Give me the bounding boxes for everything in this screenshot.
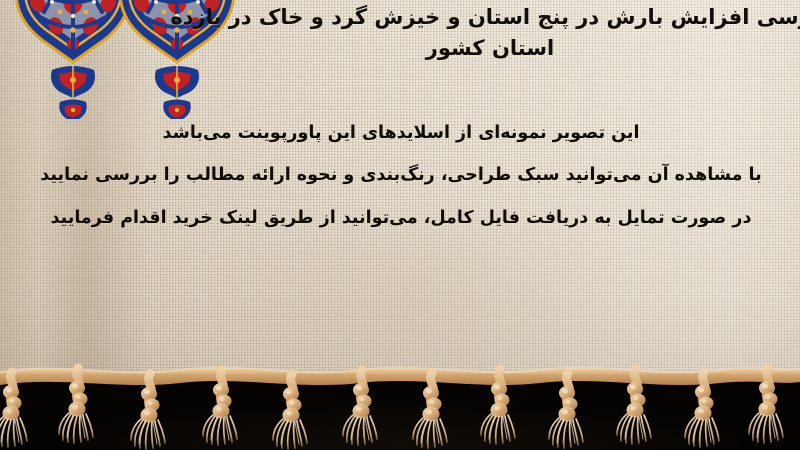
slide-title-line-2: استان کشور bbox=[170, 33, 800, 64]
slide-title-line-1: بررسی افزایش بارش در پنج استان و خیزش گر… bbox=[170, 2, 800, 33]
body-line-1: این تصویر نمونه‌ای از اسلایدهای این پاور… bbox=[6, 112, 796, 154]
slide-title: بررسی افزایش بارش در پنج استان و خیزش گر… bbox=[170, 2, 800, 64]
presentation-slide: بررسی افزایش بارش در پنج استان و خیزش گر… bbox=[0, 0, 800, 450]
body-line-2: با مشاهده آن می‌توانید سبک طراحی، رنگ‌بن… bbox=[6, 154, 796, 196]
dark-backdrop-band bbox=[0, 374, 800, 450]
body-line-3: در صورت تمایل به دریافت فایل کامل، می‌تو… bbox=[6, 197, 796, 239]
slide-body-text: این تصویر نمونه‌ای از اسلایدهای این پاور… bbox=[6, 112, 796, 239]
